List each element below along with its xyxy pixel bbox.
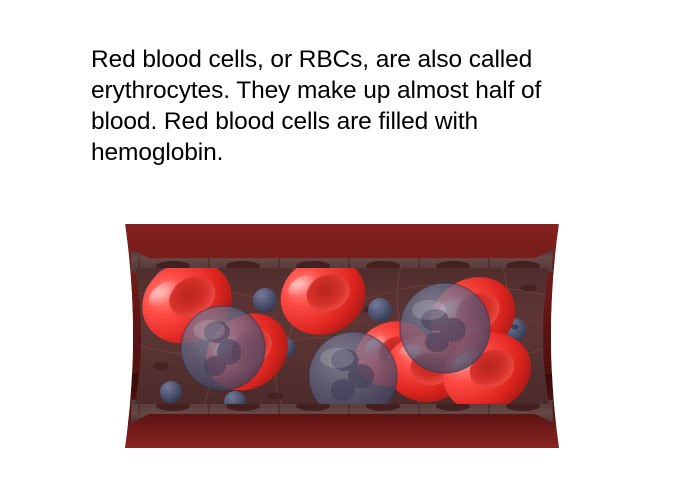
texture-overlay xyxy=(125,224,559,448)
slide-caption: Red blood cells, or RBCs, are also calle… xyxy=(91,44,611,168)
blood-vessel-illustration xyxy=(125,224,559,448)
blood-vessel-svg xyxy=(125,224,559,448)
vessel-body xyxy=(125,224,559,448)
slide-canvas: Red blood cells, or RBCs, are also calle… xyxy=(0,0,700,480)
